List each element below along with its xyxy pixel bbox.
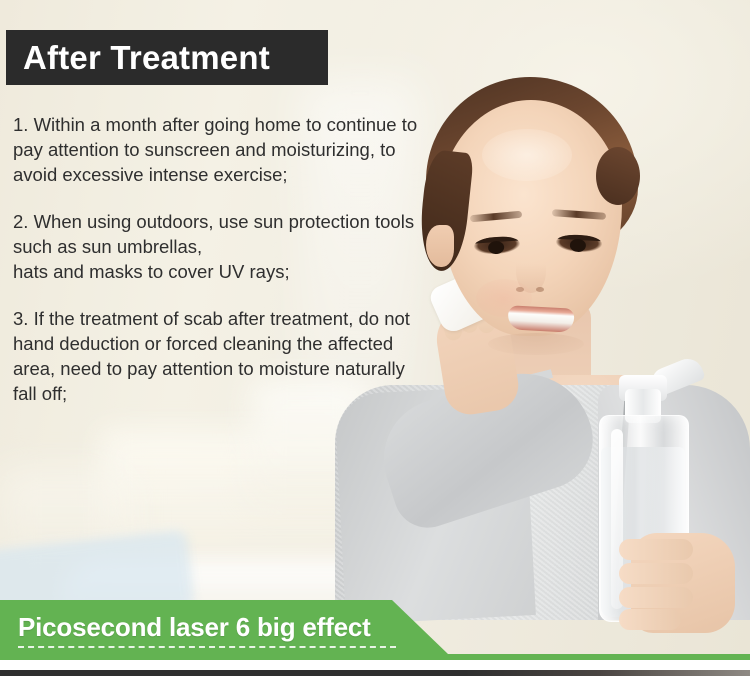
footer-banner-title: Picosecond laser 6 big effect (18, 612, 460, 643)
promo-banner-page: After Treatment 1. Within a month after … (0, 0, 750, 676)
footer-banner: Picosecond laser 6 big effect (0, 600, 460, 660)
instruction-item-3: 3. If the treatment of scab after treatm… (13, 306, 433, 406)
bottom-dark-strip (0, 670, 750, 676)
section-title-box: After Treatment (6, 30, 328, 85)
bottle-highlight (611, 429, 623, 609)
finger (619, 563, 693, 584)
instruction-item-1: 1. Within a month after going home to co… (13, 112, 433, 187)
page-title: After Treatment (6, 39, 270, 77)
pupil (488, 241, 505, 255)
bottom-white-gap (0, 660, 750, 670)
finger (619, 587, 693, 608)
finger (619, 609, 681, 630)
mouth-smiling (507, 305, 574, 332)
instruction-item-2: 2. When using outdoors, use sun protecti… (13, 209, 433, 284)
forehead-highlight (482, 129, 572, 181)
hand-holding-bottle (631, 533, 735, 633)
hair-bun (596, 147, 640, 205)
footer-dashed-underline (18, 646, 396, 648)
toner-bottle-group (585, 365, 735, 625)
nostril-right (536, 287, 544, 292)
chin-shadow (488, 333, 584, 355)
instruction-list: 1. Within a month after going home to co… (13, 112, 433, 406)
pupil (570, 239, 587, 253)
finger (619, 539, 693, 560)
